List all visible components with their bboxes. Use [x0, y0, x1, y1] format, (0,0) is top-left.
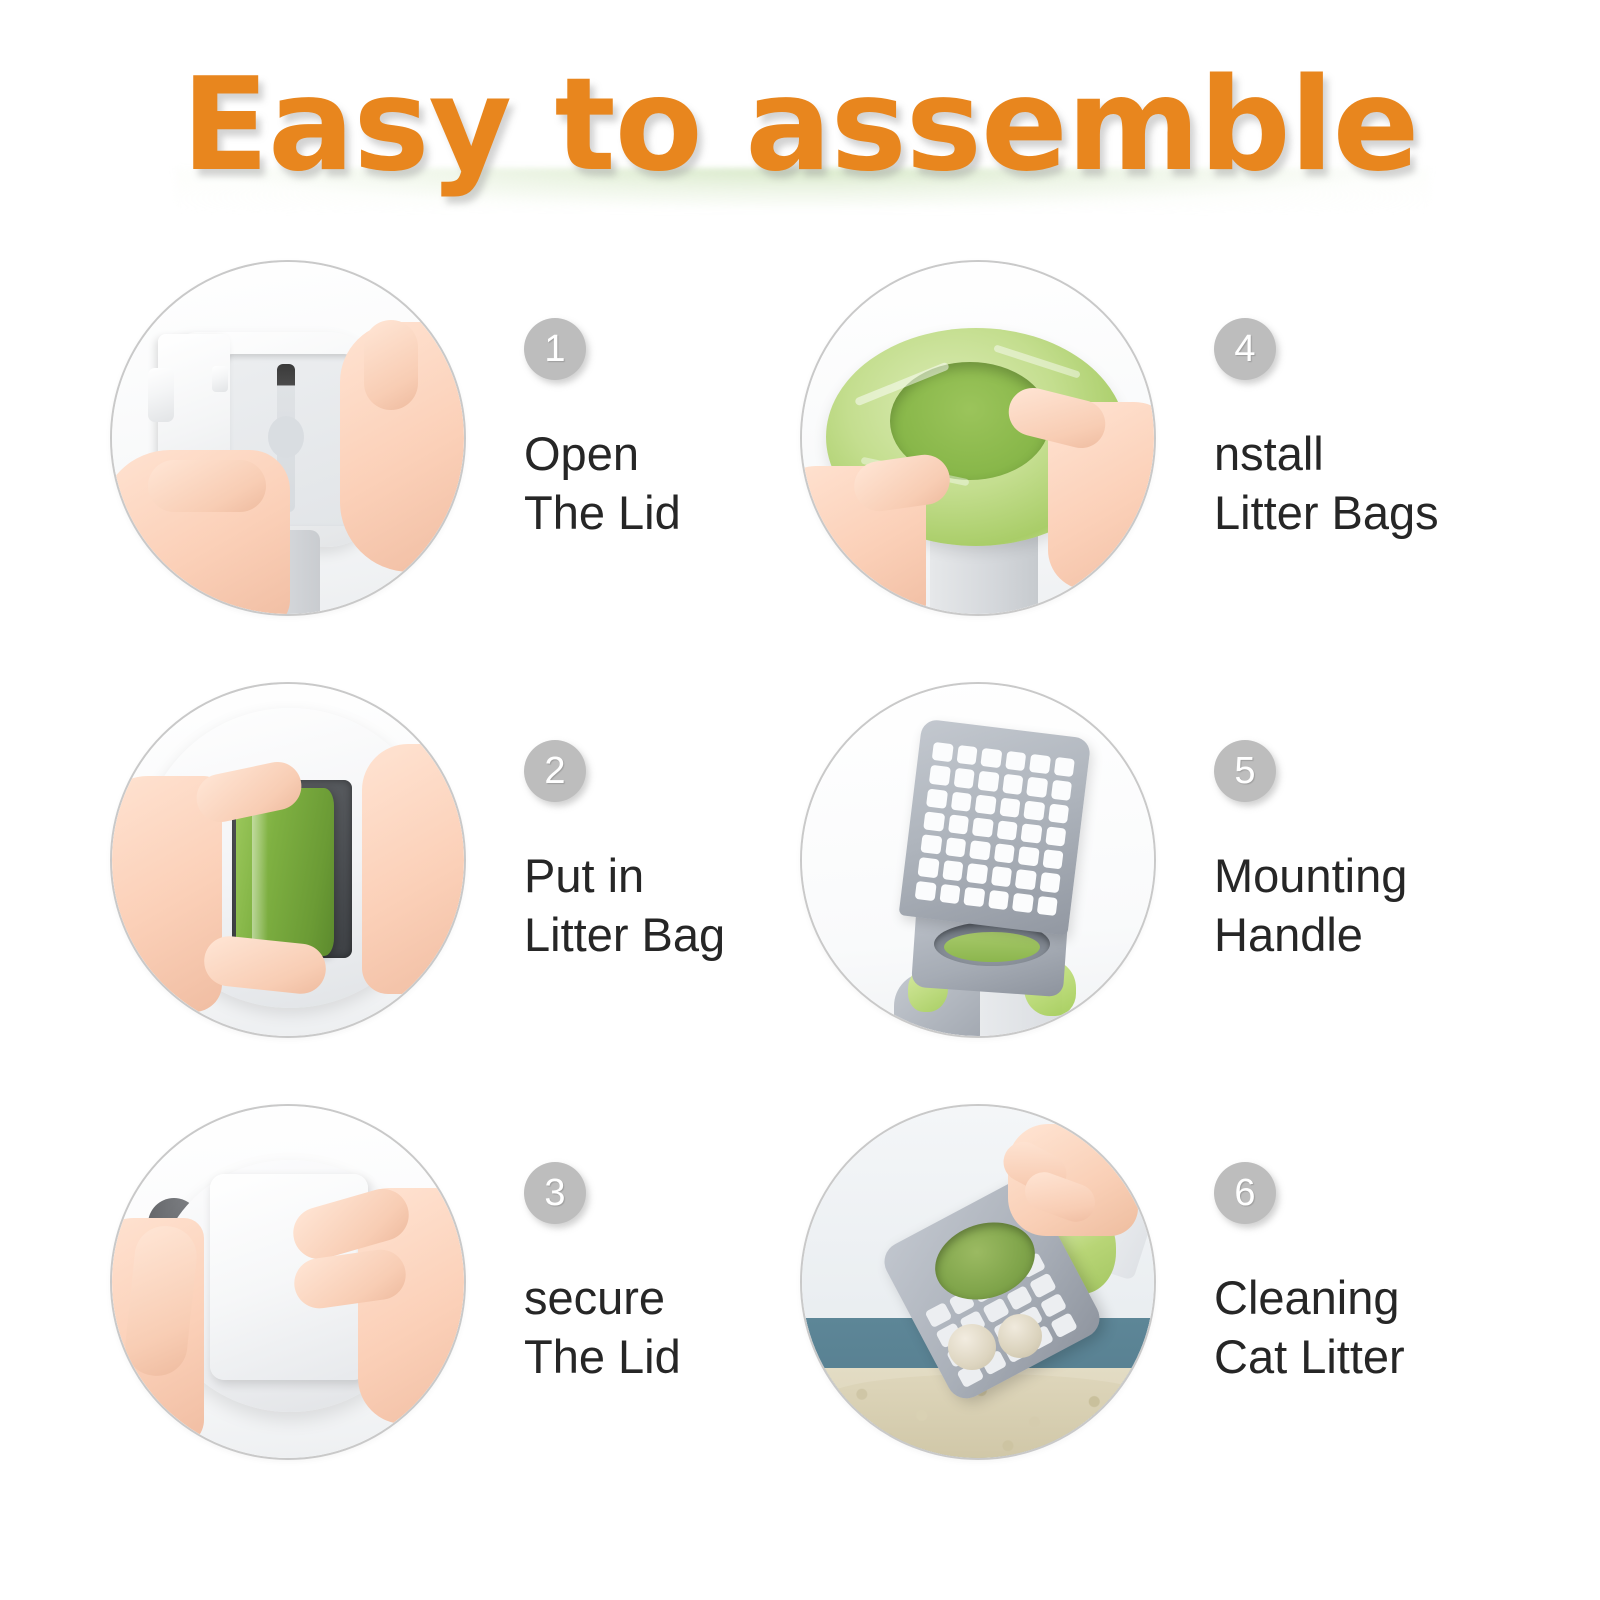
step-body-5: 5 Mounting Handle — [1156, 682, 1500, 964]
step-label-1: Open The Lid — [524, 424, 810, 542]
header: Easy to assemble — [0, 0, 1600, 230]
photo-put-in-litter-bag — [110, 682, 466, 1038]
step-item-5[interactable]: 5 Mounting Handle — [800, 682, 1500, 1102]
step-item-6[interactable]: 6 Cleaning Cat Litter — [800, 1104, 1500, 1524]
steps-grid: 1 Open The Lid 2 Put — [0, 230, 1600, 1600]
photo-cleaning-cat-litter — [800, 1104, 1156, 1460]
step-item-4[interactable]: 4 nstall Litter Bags — [800, 260, 1500, 680]
step-item-3[interactable]: 3 secure The Lid — [110, 1104, 810, 1524]
step-body-1: 1 Open The Lid — [466, 260, 810, 542]
step-item-1[interactable]: 1 Open The Lid — [110, 260, 810, 680]
step-label-2: Put in Litter Bag — [524, 846, 810, 964]
photo-install-litter-bags — [800, 260, 1156, 616]
page-title: Easy to assemble — [0, 62, 1600, 190]
photo-secure-the-lid — [110, 1104, 466, 1460]
step-badge-1: 1 — [524, 318, 586, 380]
step-badge-4: 4 — [1214, 318, 1276, 380]
step-label-6: Cleaning Cat Litter — [1214, 1268, 1500, 1386]
step-badge-6: 6 — [1214, 1162, 1276, 1224]
step-badge-2: 2 — [524, 740, 586, 802]
step-body-3: 3 secure The Lid — [466, 1104, 810, 1386]
step-label-5: Mounting Handle — [1214, 846, 1500, 964]
step-label-4: nstall Litter Bags — [1214, 424, 1500, 542]
photo-open-the-lid — [110, 260, 466, 616]
step-body-6: 6 Cleaning Cat Litter — [1156, 1104, 1500, 1386]
photo-mounting-handle — [800, 682, 1156, 1038]
step-item-2[interactable]: 2 Put in Litter Bag — [110, 682, 810, 1102]
step-label-3: secure The Lid — [524, 1268, 810, 1386]
step-body-4: 4 nstall Litter Bags — [1156, 260, 1500, 542]
step-body-2: 2 Put in Litter Bag — [466, 682, 810, 964]
step-badge-5: 5 — [1214, 740, 1276, 802]
step-badge-3: 3 — [524, 1162, 586, 1224]
